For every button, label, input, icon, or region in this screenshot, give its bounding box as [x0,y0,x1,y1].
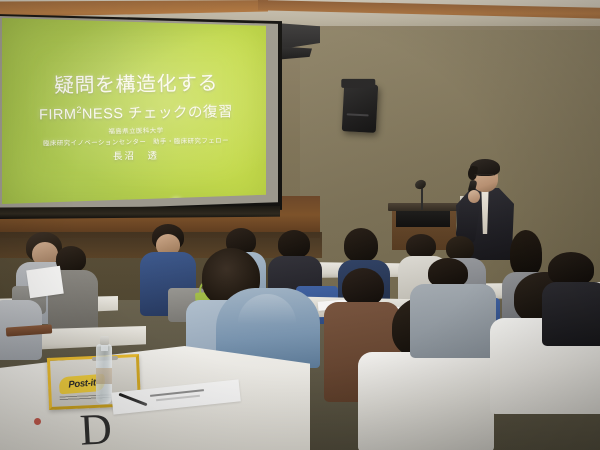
paper-held-by-attendee [26,266,64,298]
speaker-mount [341,79,375,88]
slide-organization-line-1: 福島県立医科大学 [2,126,270,137]
red-mark [34,418,41,425]
slide-title: 疑問を構造化する [2,72,270,99]
attendee-hair [406,234,436,258]
wall-speaker-icon [342,83,378,133]
attendee-hair [56,246,86,272]
projection-screen: 疑問を構造化する FIRM2NESS チェックの復習 福島県立医科大学 臨床研究… [2,18,266,204]
presenter-glasses-icon [474,174,495,180]
slide-subtitle: FIRM2NESS チェックの復習 [2,102,270,124]
lecture-room-photo: 疑問を構造化する FIRM2NESS チェックの復習 福島県立医科大学 臨床研究… [0,0,600,450]
lectern-top [388,203,460,211]
water-bottle-label [96,368,112,384]
attendee-hair [510,230,542,276]
presenter-hand [468,190,480,203]
slide-subtitle-rest: NESS チェックの復習 [82,104,233,122]
attendee-hair [446,236,474,260]
slide-presenter-name: 長沼 透 [2,150,270,165]
attendee-hair [548,252,594,286]
attendee-hair [342,268,384,306]
handwritten-letter: D [79,403,113,450]
attendee-torso [358,352,494,450]
podium-microphone-stand [421,186,423,210]
speaker-grill [347,113,369,116]
lectern-equipment-panel [396,211,450,227]
slide-organization-line-2: 臨床研究イノベーションセンター 助手・臨床研究フェロー [2,137,270,148]
water-bottle-cap[interactable] [100,336,109,345]
slide-subtitle-main: FIRM [39,107,77,124]
attendee-torso [410,284,496,358]
attendee-hair [278,230,310,258]
attendee-hair [344,228,378,262]
attendee-torso [542,282,600,346]
water-bottle-neck [101,344,108,351]
